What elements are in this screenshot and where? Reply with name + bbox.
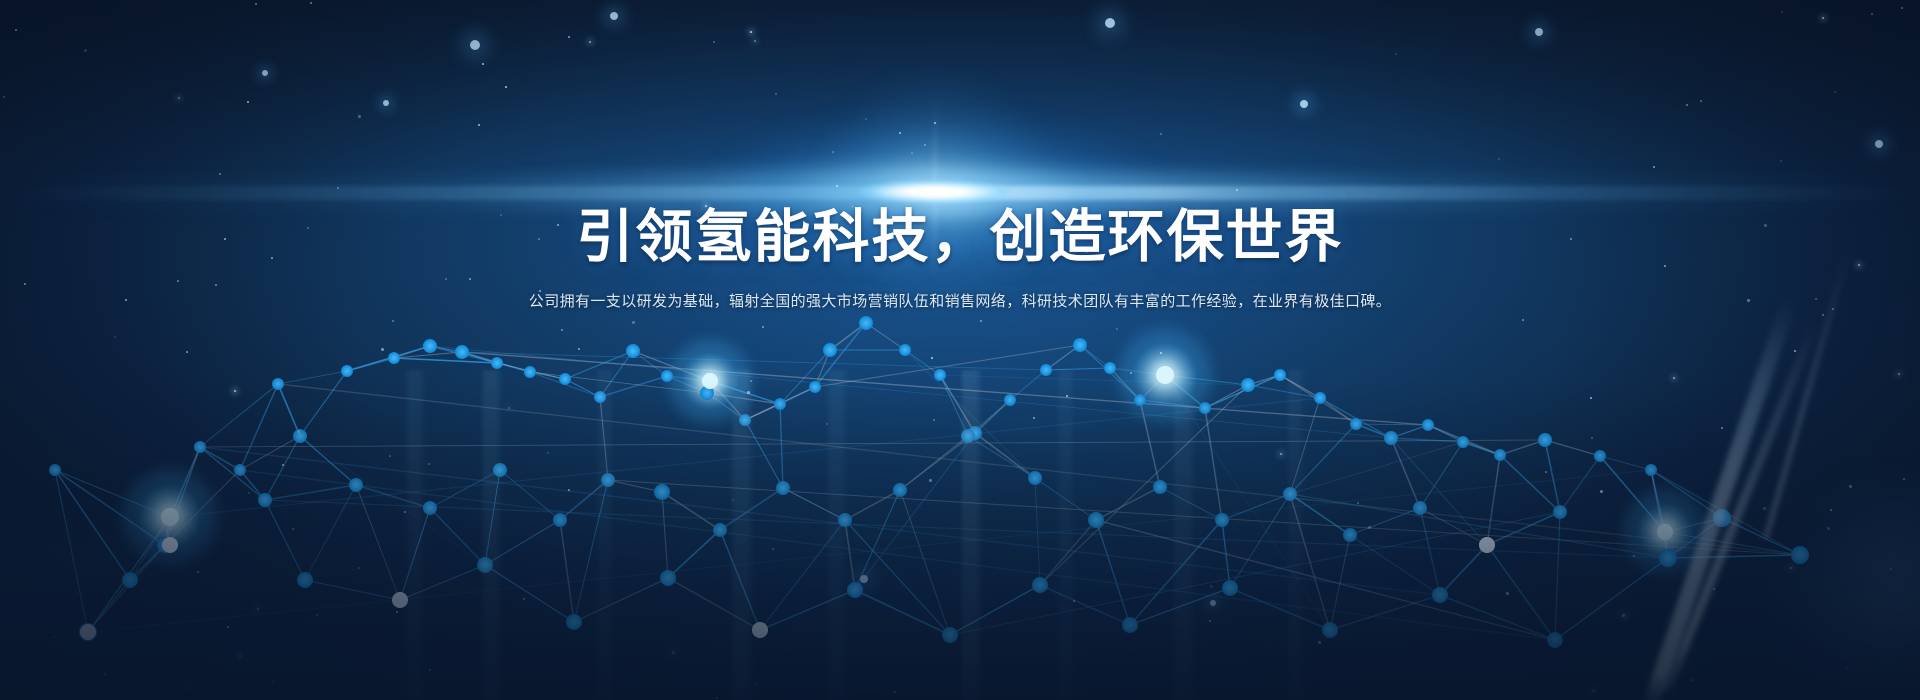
hero-banner: 引领氢能科技，创造环保世界 公司拥有一支以研发为基础，辐射全国的强大市场营销队伍… — [0, 0, 1920, 700]
background-bottom-shade — [0, 380, 1920, 700]
page-subtitle: 公司拥有一支以研发为基础，辐射全国的强大市场营销队伍和销售网络，科研技术团队有丰… — [0, 273, 1920, 314]
page-title: 引领氢能科技，创造环保世界 — [0, 0, 1920, 273]
hero-content: 引领氢能科技，创造环保世界 公司拥有一支以研发为基础，辐射全国的强大市场营销队伍… — [0, 0, 1920, 313]
